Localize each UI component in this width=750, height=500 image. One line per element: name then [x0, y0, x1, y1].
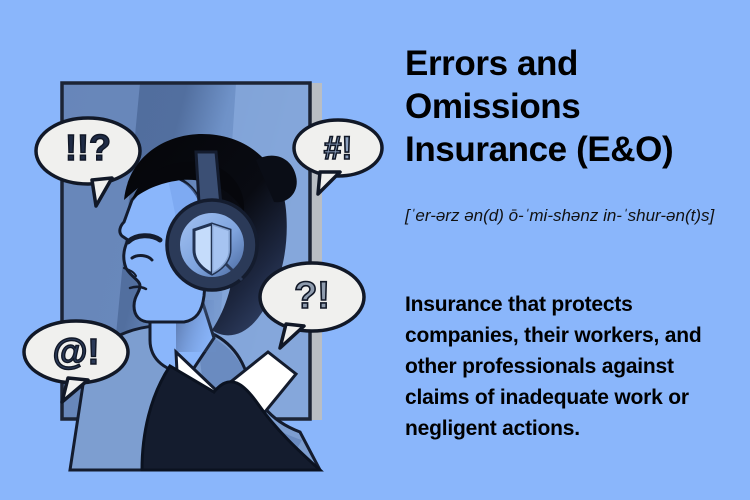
- bubble-text-top-left: !!?: [65, 127, 111, 168]
- term-definition: Insurance that protects companies, their…: [405, 289, 740, 444]
- shield-icon: [194, 224, 230, 274]
- bubble-text-bottom-left: @!: [52, 331, 99, 372]
- term-title: Errors and Omissions Insurance (E&O): [405, 42, 735, 171]
- person-with-headphones-illustration: !!? #! ?! @!: [0, 0, 400, 500]
- glossary-term-card: !!? #! ?! @! Errors and Omiss: [0, 0, 750, 500]
- bubble-text-right: ?!: [294, 275, 330, 317]
- bubble-text-top-right: #!: [324, 130, 352, 166]
- term-pronunciation: [ˈer-ərz ən(d) ō-ˈmi-shənz in-ˈshur-ən(t…: [405, 204, 735, 227]
- illustration-svg: !!? #! ?! @!: [0, 0, 400, 500]
- term-text-column: Errors and Omissions Insurance (E&O) [ˈe…: [405, 0, 735, 500]
